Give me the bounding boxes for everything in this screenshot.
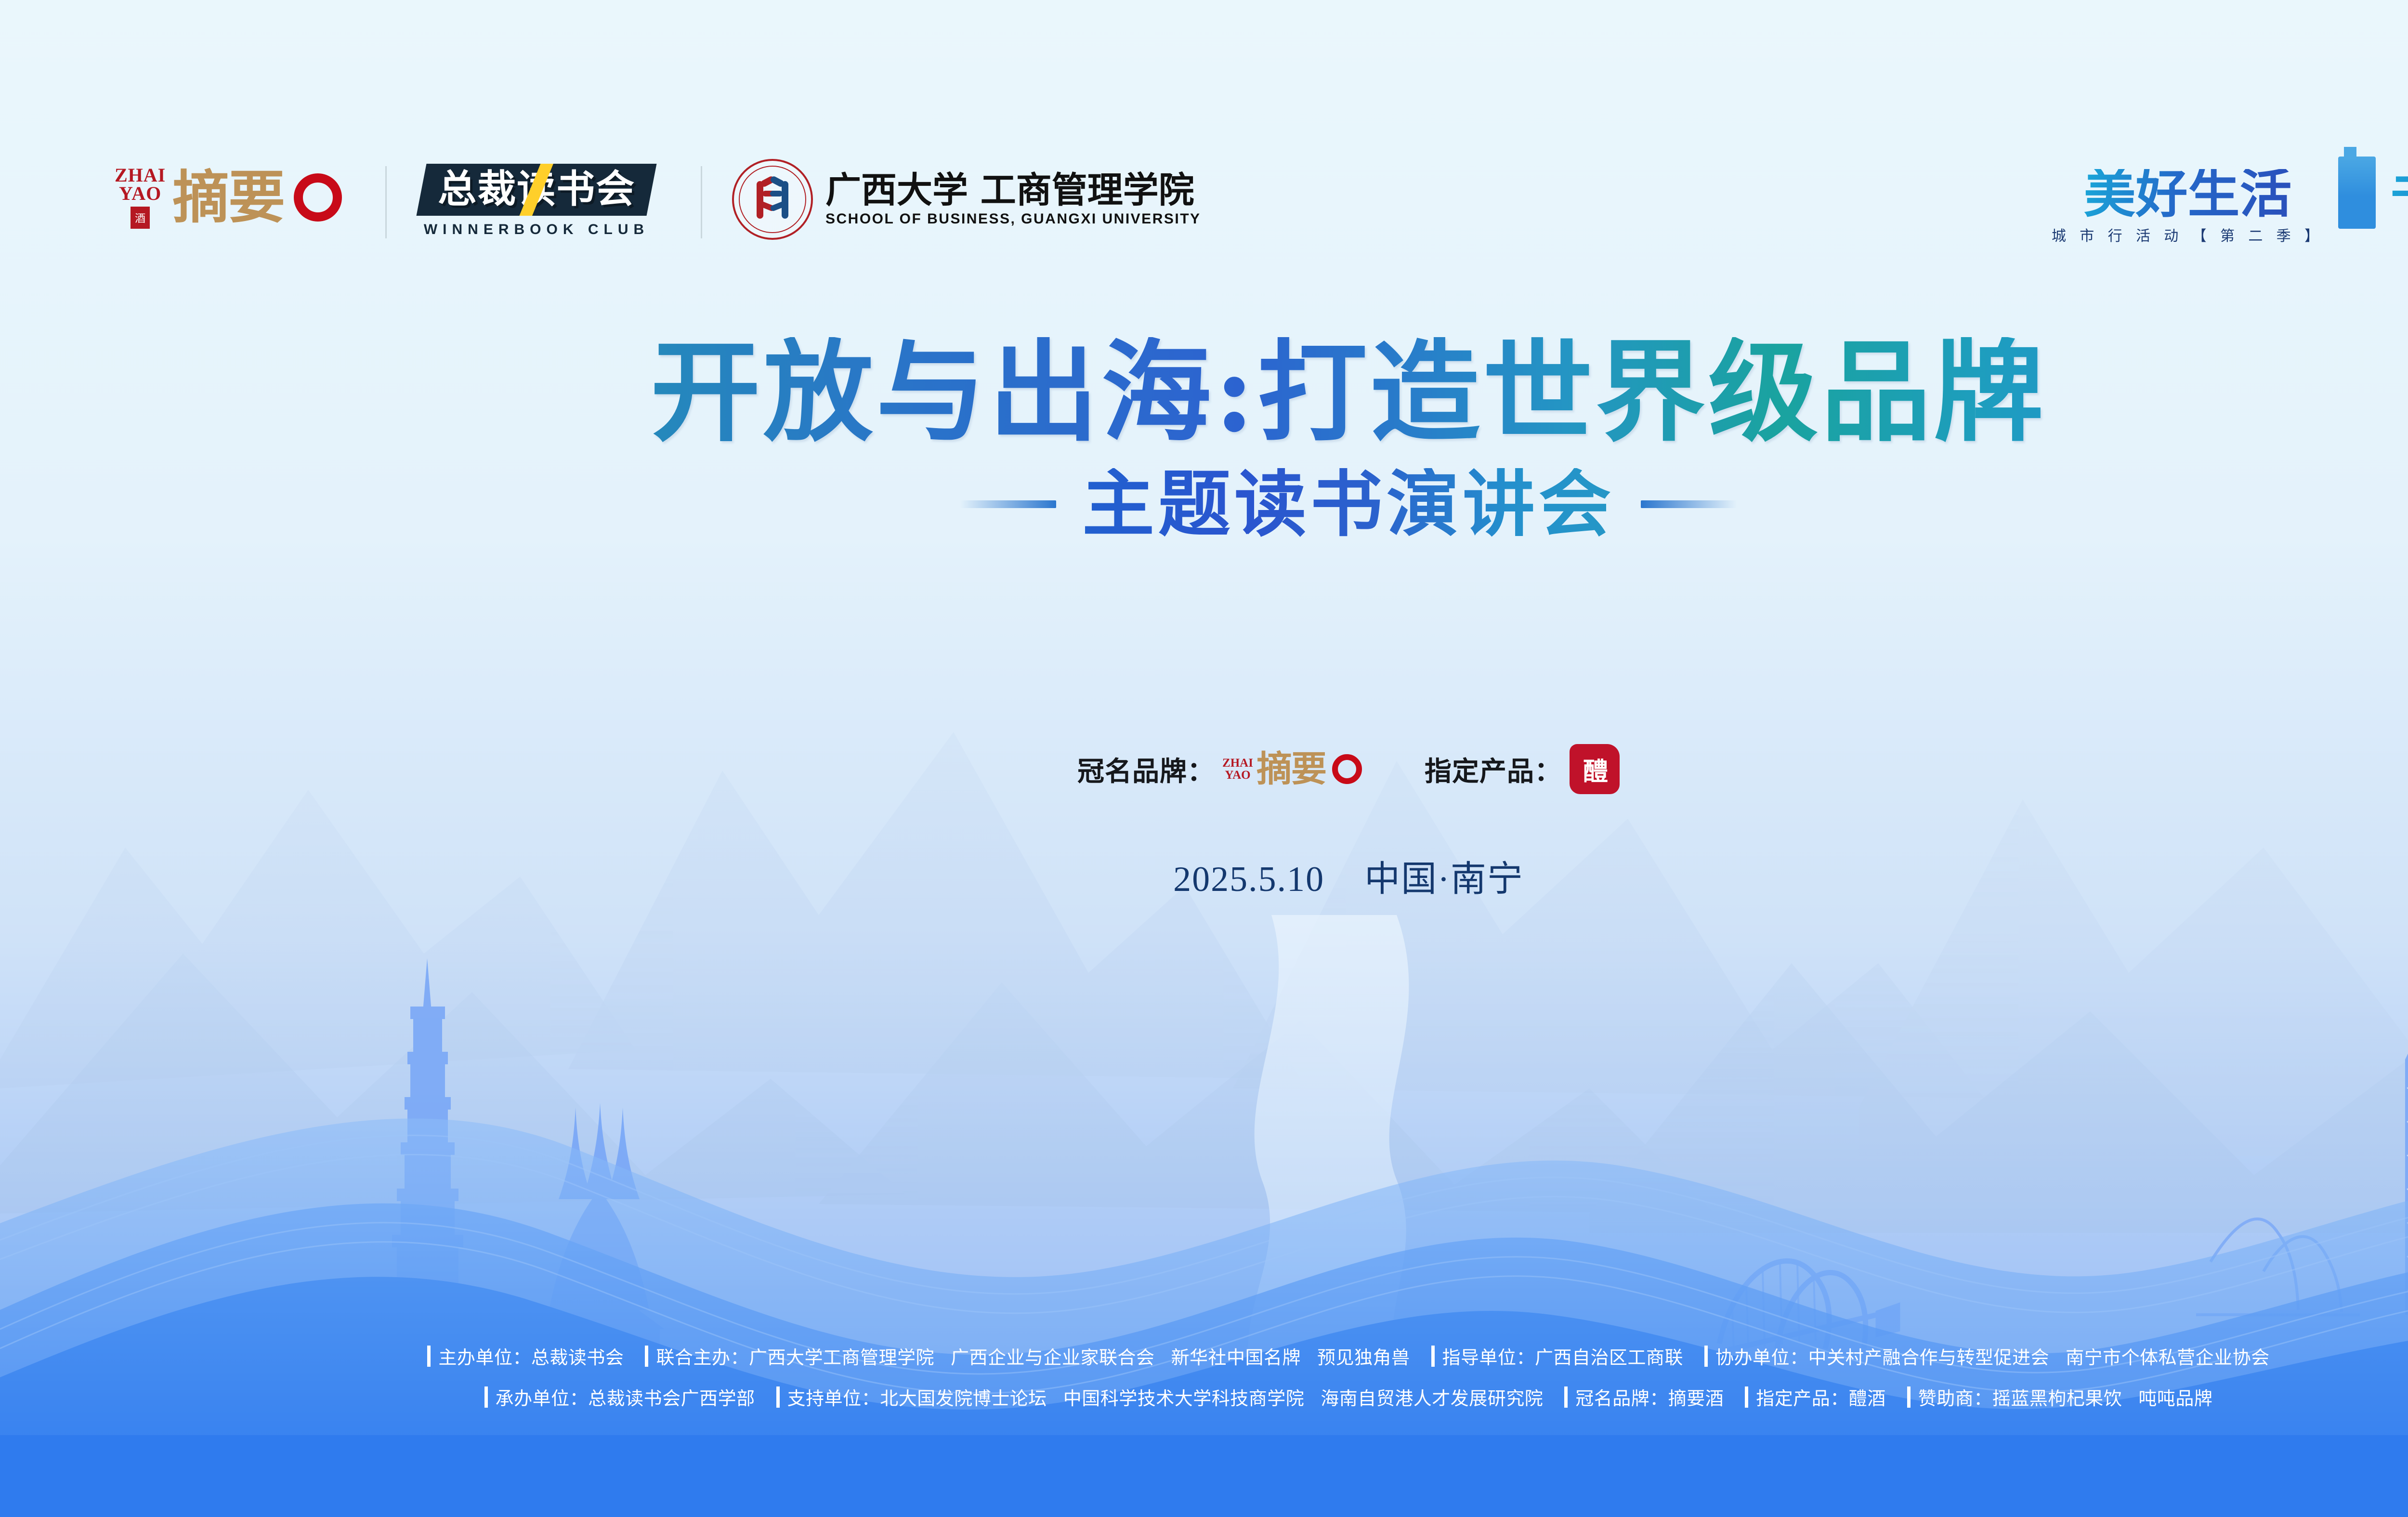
- credit-bar-icon: [1745, 1386, 1748, 1408]
- event-location: 中国·南宁: [1364, 860, 1524, 899]
- campaign-right-title: 书香中国: [2390, 169, 2408, 219]
- page-title: 开放与出海:打造世界级品牌: [0, 337, 2408, 447]
- credit-group: 联合主办：广西大学工商管理学院广西企业与企业家联合会新华社中国名牌预见独角兽: [634, 1343, 1420, 1369]
- gxu-seal-icon: [732, 159, 813, 240]
- credit-items: 广西自治区工商联: [1535, 1343, 1683, 1369]
- logo-guangxi-university: 广西大学 工商管理学院 SCHOOL OF BUSINESS, GUANGXI …: [732, 159, 1201, 240]
- credit-item: 新华社中国名牌: [1171, 1343, 1301, 1369]
- credit-item: 南宁市个体私营企业协会: [2066, 1343, 2270, 1369]
- credit-item: 总裁读书会: [531, 1343, 624, 1369]
- date-location-row: 2025.5.10 中国·南宁: [0, 850, 2408, 902]
- sponsor-title-label: 冠名品牌：: [1077, 750, 1215, 789]
- red-seal-icon: 醴: [1570, 744, 1620, 794]
- subtitle-rule-left: [960, 500, 1056, 508]
- credit-label: 联合主办：: [656, 1343, 749, 1369]
- sponsor-zhaiyao-ring-icon: [1332, 754, 1362, 784]
- poster-header: ZHAI YAO 酒 摘要 总裁读书会 WINNERBOOK CLUB: [0, 0, 2408, 144]
- credit-label: 承办单位：: [496, 1384, 589, 1410]
- credit-label: 主办单位：: [438, 1343, 531, 1369]
- credit-item: 中国科学技术大学科技商学院: [1063, 1384, 1305, 1410]
- credit-label: 协办单位：: [1715, 1343, 1808, 1369]
- credit-label: 支持单位：: [787, 1384, 880, 1410]
- title-block: 开放与出海:打造世界级品牌 主题读书演讲会: [0, 337, 2408, 540]
- credit-group: 支持单位：北大国发院博士论坛中国科学技术大学科技商学院海南自贸港人才发展研究院: [766, 1384, 1554, 1410]
- zhaiyao-pinyin-bottom: YAO: [119, 184, 161, 203]
- credit-item: 预见独角兽: [1317, 1343, 1410, 1369]
- credit-item: 总裁读书会广西学部: [588, 1384, 755, 1410]
- sponsor-title-brand: 冠名品牌： ZHAI YAO 摘要: [1077, 750, 1362, 789]
- credit-item: 摘要酒: [1668, 1384, 1724, 1410]
- credit-bar-icon: [1431, 1346, 1435, 1367]
- campaign-left-sub: 城 市 行 活 动 【 第 二 季 】: [2052, 224, 2324, 245]
- zhaiyao-pinyin-block: ZHAI YAO 酒: [115, 166, 166, 229]
- credit-items: 广西大学工商管理学院广西企业与企业家联合会新华社中国名牌预见独角兽: [749, 1343, 1410, 1369]
- logo-winnerbook-club: 总裁读书会 WINNERBOOK CLUB: [421, 164, 652, 238]
- credit-item: 广西大学工商管理学院: [749, 1343, 934, 1369]
- credits-block: 主办单位：总裁读书会联合主办：广西大学工商管理学院广西企业与企业家联合会新华社中…: [0, 1343, 2408, 1425]
- zhaiyao-ring-icon: [294, 173, 342, 222]
- gxu-name-en: SCHOOL OF BUSINESS, GUANGXI UNIVERSITY: [825, 211, 1201, 227]
- designated-product-label: 指定产品：: [1425, 750, 1562, 789]
- credit-items: 总裁读书会: [531, 1343, 624, 1369]
- winnerbook-en: WINNERBOOK CLUB: [421, 222, 652, 238]
- page-subtitle: 主题读书演讲会: [1082, 468, 1615, 540]
- credit-label: 冠名品牌：: [1575, 1384, 1668, 1410]
- credits-line-2: 承办单位：总裁读书会广西学部支持单位：北大国发院博士论坛中国科学技术大学科技商学…: [0, 1384, 2408, 1410]
- credit-item: 广西企业与企业家联合会: [951, 1343, 1155, 1369]
- gxu-name-cn: 广西大学 工商管理学院: [825, 171, 1201, 209]
- event-date: 2025.5.10: [1173, 860, 1324, 899]
- credit-bar-icon: [1564, 1386, 1568, 1408]
- subtitle-rule-right: [1641, 500, 1737, 508]
- credit-items: 摇蓝黑枸杞果饮吨吨品牌: [1992, 1384, 2213, 1410]
- credit-group: 指导单位：广西自治区工商联: [1421, 1343, 1694, 1369]
- gxu-emblem-figures: [756, 176, 789, 222]
- sponsor-zhaiyao-wordmark: 摘要: [1256, 752, 1326, 786]
- credit-group: 赞助商：摇蓝黑枸杞果饮吨吨品牌: [1897, 1384, 2224, 1410]
- credit-item: 广西自治区工商联: [1535, 1343, 1683, 1369]
- campaign-left-title: 美好生活: [2083, 169, 2291, 219]
- header-divider-1: [385, 166, 387, 238]
- zhaiyao-seal-icon: 酒: [131, 207, 150, 229]
- winnerbook-plate: 总裁读书会: [417, 164, 657, 216]
- credit-bar-icon: [645, 1346, 648, 1367]
- credits-line-1: 主办单位：总裁读书会联合主办：广西大学工商管理学院广西企业与企业家联合会新华社中…: [0, 1343, 2408, 1369]
- credit-bar-icon: [776, 1386, 780, 1408]
- credit-item: 摇蓝黑枸杞果饮: [1992, 1384, 2122, 1410]
- credit-item: 醴酒: [1849, 1384, 1886, 1410]
- logo-campaign: 美好生活 城 市 行 活 动 【 第 二 季 】 书香中国 走 进 南 宁: [2052, 157, 2408, 245]
- credit-group: 主办单位：总裁读书会: [417, 1343, 634, 1369]
- campaign-right-block: 书香中国 走 进 南 宁: [2390, 169, 2408, 245]
- logo-zhaiyao: ZHAI YAO 酒 摘要: [115, 166, 342, 229]
- credit-group: 承办单位：总裁读书会广西学部: [474, 1384, 766, 1410]
- sponsor-zhaiyao-pinyin-top: ZHAI: [1222, 757, 1253, 769]
- credit-bar-icon: [427, 1346, 431, 1367]
- sponsor-zhaiyao-logo: ZHAI YAO 摘要: [1222, 752, 1362, 786]
- zhaiyao-wordmark: 摘要: [172, 171, 284, 224]
- credit-items: 摘要酒: [1668, 1384, 1724, 1410]
- credit-item: 海南自贸港人才发展研究院: [1321, 1384, 1543, 1410]
- subtitle-row: 主题读书演讲会: [0, 468, 2408, 540]
- credit-bar-icon: [484, 1386, 488, 1408]
- sponsor-zhaiyao-pinyin-bottom: YAO: [1225, 769, 1250, 781]
- event-poster: ZHAI YAO 酒 摘要 总裁读书会 WINNERBOOK CLUB: [0, 0, 2408, 1517]
- credit-label: 指导单位：: [1442, 1343, 1535, 1369]
- credit-items: 醴酒: [1849, 1384, 1886, 1410]
- credit-bar-icon: [1907, 1386, 1911, 1408]
- credit-group: 协办单位：中关村产融合作与转型促进会南宁市个体私营企业协会: [1694, 1343, 2280, 1369]
- credit-label: 指定产品：: [1756, 1384, 1849, 1410]
- credit-group: 指定产品：醴酒: [1734, 1384, 1897, 1410]
- credit-items: 总裁读书会广西学部: [588, 1384, 755, 1410]
- credit-item: 吨吨品牌: [2138, 1384, 2212, 1410]
- credit-items: 北大国发院博士论坛中国科学技术大学科技商学院海南自贸港人才发展研究院: [880, 1384, 1543, 1410]
- gxu-text-block: 广西大学 工商管理学院 SCHOOL OF BUSINESS, GUANGXI …: [825, 171, 1201, 227]
- header-divider-2: [701, 166, 702, 238]
- credit-group: 冠名品牌：摘要酒: [1554, 1384, 1734, 1410]
- credit-label: 赞助商：: [1918, 1384, 1992, 1410]
- credit-item: 北大国发院博士论坛: [880, 1384, 1047, 1410]
- sponsor-row: 冠名品牌： ZHAI YAO 摘要 指定产品： 醴: [0, 744, 2408, 794]
- credit-bar-icon: [1704, 1346, 1708, 1367]
- campaign-left-block: 美好生活 城 市 行 活 动 【 第 二 季 】: [2052, 169, 2324, 245]
- book-icon: [2338, 157, 2376, 229]
- credit-items: 中关村产融合作与转型促进会南宁市个体私营企业协会: [1808, 1343, 2270, 1369]
- sponsor-designated-product: 指定产品： 醴: [1425, 744, 1620, 794]
- credit-item: 中关村产融合作与转型促进会: [1808, 1343, 2050, 1369]
- zhaiyao-pinyin-top: ZHAI: [115, 166, 166, 184]
